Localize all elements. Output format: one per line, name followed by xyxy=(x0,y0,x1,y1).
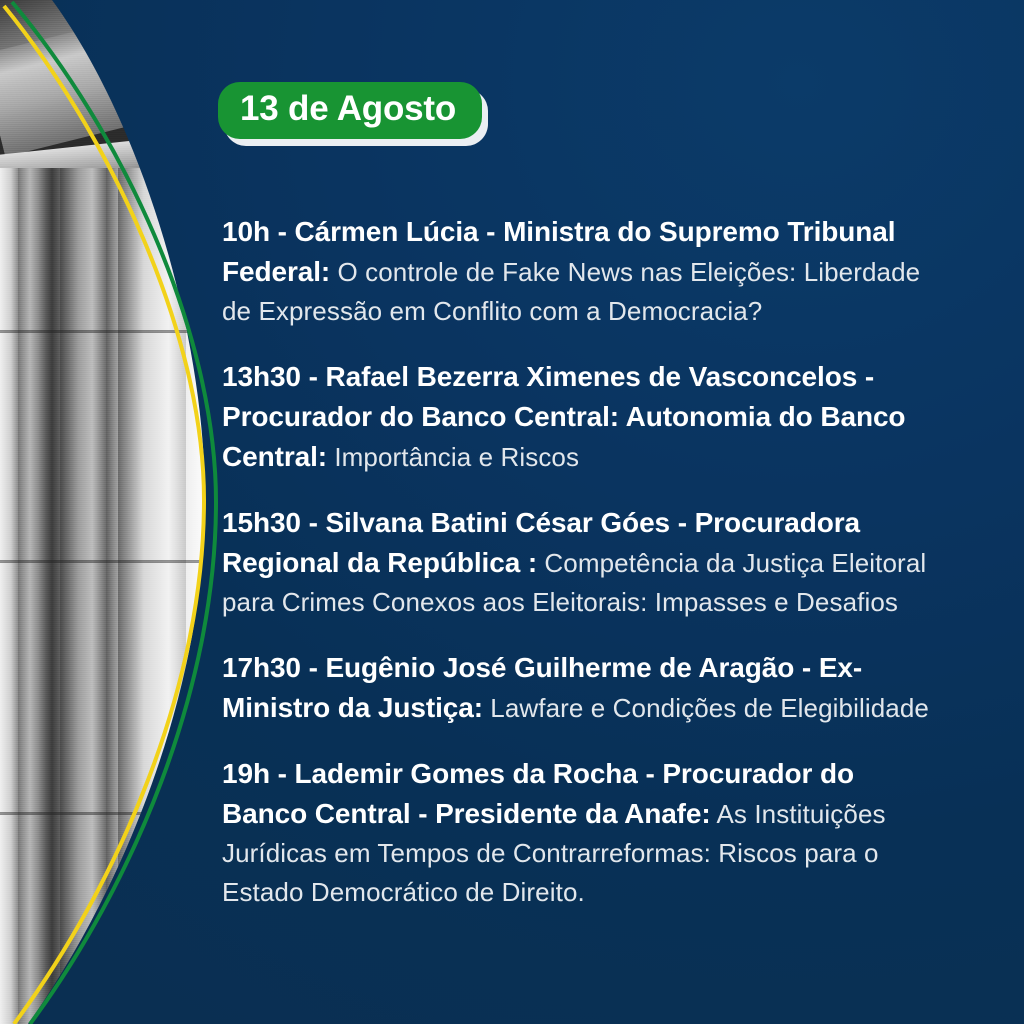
schedule-entry: 19h - Lademir Gomes da Rocha - Procurado… xyxy=(222,754,942,912)
classical-columns-photo xyxy=(0,0,235,1024)
date-badge-label: 13 de Agosto xyxy=(240,89,456,128)
schedule-entry: 13h30 - Rafael Bezerra Ximenes de Vascon… xyxy=(222,357,942,477)
schedule-list: 10h - Cármen Lúcia - Ministra do Supremo… xyxy=(222,186,942,912)
date-badge-wrapper: 13 de Agosto xyxy=(218,82,482,139)
photo-grain xyxy=(0,0,235,1024)
schedule-entry: 15h30 - Silvana Batini César Góes - Proc… xyxy=(222,503,942,622)
event-schedule-poster: 13 de Agosto 10h - Cármen Lúcia - Minist… xyxy=(0,0,1024,1024)
schedule-entry: 10h - Cármen Lúcia - Ministra do Supremo… xyxy=(222,212,942,331)
schedule-entry-topic: Importância e Riscos xyxy=(327,442,579,472)
date-badge: 13 de Agosto xyxy=(218,82,482,139)
schedule-entry-topic: Lawfare e Condições de Elegibilidade xyxy=(483,693,929,723)
columns-photo-clip xyxy=(0,0,235,1024)
schedule-entry: 17h30 - Eugênio José Guilherme de Aragão… xyxy=(222,648,942,728)
